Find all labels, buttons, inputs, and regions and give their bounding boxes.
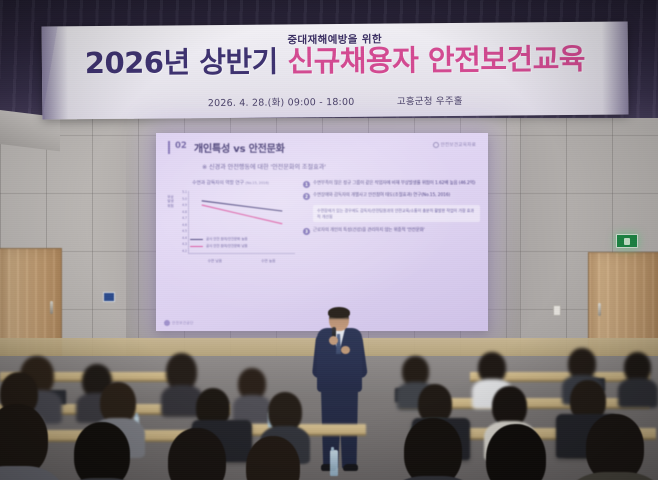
audience-body	[233, 395, 271, 423]
y-tick: 4.5	[178, 230, 187, 233]
banner-title-part-pink: 신규채용자	[287, 43, 428, 78]
legend-swatch-1	[190, 246, 203, 248]
projection-screen: 02 개인특성 vs 안전문화 안전보건교육자료 ※ 신경과 안전행동에 대한 …	[156, 133, 488, 331]
tag-dot-icon	[433, 142, 439, 148]
legend-label-0: 공사 안전 참여/안전문화 높음	[206, 237, 248, 242]
chart-plot-area: 부상발생위험 5.15.04.94.84.74.64.54.44.34.2	[164, 189, 297, 267]
legend-item: 공사 안전 참여/안전문화 낮음	[190, 244, 248, 249]
audience-head	[404, 418, 462, 480]
bullet-number-icon: 1	[303, 181, 310, 188]
y-tick: 4.2	[178, 250, 187, 253]
slide-corner-tag-text: 안전보건교육자료	[441, 142, 476, 148]
legend-label-1: 공사 안전 참여/안전문화 낮음	[206, 244, 248, 249]
y-tick: 4.7	[178, 217, 187, 220]
y-tick: 4.9	[178, 204, 187, 207]
slide-subtitle: ※ 신경과 안전행동에 대한 '안전문화의 조절효과'	[202, 162, 480, 171]
speaker-hand-left	[329, 336, 338, 345]
speaker-hand-right	[341, 346, 350, 354]
bullet-number-icon: 3	[303, 228, 310, 235]
audience-head	[74, 422, 130, 480]
bullet-text: 근로자의 개인의 특성(건강)을 관리하지 않는 위중적 '안전문화'	[313, 228, 425, 235]
audience-head	[486, 424, 546, 480]
banner-title-part-pink2: 안전보건교육	[428, 42, 585, 77]
bullet-note: 수면장애가 있는 경우에도 감독자/안전팀원과의 안전교육/소통이 충분히 활발…	[313, 205, 480, 222]
light-switch[interactable]	[553, 305, 561, 316]
bullet-item: 2 수면장애와 감독자의 개별사고 안전참여 태도(조절효과) 연구(No.15…	[303, 193, 480, 200]
wall-notice-sign	[103, 292, 115, 302]
door-handle	[50, 301, 53, 314]
chart-title-citation: (No.15, 2016)	[245, 181, 268, 185]
y-tick: 4.3	[178, 243, 187, 246]
slide-logo-text: 안전보건공단	[172, 321, 194, 326]
slide-section-number: 02	[175, 141, 187, 151]
banner-venue: 고흥군청 우주홀	[397, 96, 463, 108]
banner-title-part-navy: 2026년 상반기	[85, 44, 288, 80]
speaker-hair	[328, 307, 350, 318]
chart-legend: 공사 안전 참여/안전문화 높음 공사 안전 참여/안전문화 낮음	[190, 237, 248, 251]
y-tick: 4.8	[178, 211, 187, 214]
x-tick-1: 수면 높음	[261, 259, 275, 264]
chart-x-ticks: 수면 낮음 수면 높음	[188, 259, 295, 264]
bullet-text: 수면장애와 감독자의 개별사고 안전참여 태도(조절효과) 연구(No.15, …	[313, 193, 450, 200]
y-tick: 5.0	[178, 198, 187, 201]
y-tick: 5.1	[178, 191, 187, 194]
legend-swatch-0	[190, 239, 203, 241]
slide-chart: 수면과 감독자의 역할 연구 (No.15, 2016) 부상발생위험 5.15…	[164, 179, 297, 267]
banner-meta: 2026. 4. 28.(화) 09:00 - 18:00 고흥군청 우주홀	[42, 91, 628, 110]
bullet-text: 수면부족이 많은 정규 그룹이 같은 작업자에 비해 부상발생률 위험이 1.6…	[313, 181, 475, 188]
y-tick: 4.4	[178, 237, 187, 240]
slide-bullet-list: 1 수면부족이 많은 정규 그룹이 같은 작업자에 비해 부상발생률 위험이 1…	[303, 179, 480, 267]
water-bottle[interactable]	[330, 450, 338, 476]
banner-title: 2026년 상반기 신규채용자 안전보건교육	[42, 43, 628, 80]
audience-body	[618, 378, 658, 408]
exit-sign	[616, 234, 638, 248]
event-banner: 중대재해예방을 위한 2026년 상반기 신규채용자 안전보건교육 2026. …	[42, 21, 629, 119]
bullet-item: 1 수면부족이 많은 정규 그룹이 같은 작업자에 비해 부상발생률 위험이 1…	[303, 181, 480, 188]
chart-series-line-1	[202, 205, 283, 224]
slide-title-text: 개인특성 vs 안전문화	[194, 144, 285, 155]
audience-head	[586, 414, 644, 480]
presentation-slide: 02 개인특성 vs 안전문화 안전보건교육자료 ※ 신경과 안전행동에 대한 …	[156, 133, 488, 331]
slide-corner-tag: 안전보건교육자료	[433, 142, 476, 148]
chart-series-line-0	[202, 201, 283, 211]
slide-header: 02 개인특성 vs 안전문화 안전보건교육자료	[164, 139, 480, 158]
bullet-number-icon: 2	[303, 193, 310, 200]
legend-item: 공사 안전 참여/안전문화 높음	[190, 237, 248, 242]
chart-y-axis-label: 부상발생위험	[164, 195, 177, 208]
chart-title-text: 수면과 감독자의 역할 연구	[192, 181, 244, 186]
slide-logo: 안전보건공단	[164, 320, 194, 326]
y-tick: 4.6	[178, 224, 187, 227]
logo-mark-icon	[164, 320, 170, 326]
banner-date: 2026. 4. 28.(화) 09:00 - 18:00	[208, 97, 355, 109]
slide-title: 개인특성 vs 안전문화	[194, 140, 285, 155]
bullet-item: 3 근로자의 개인의 특성(건강)을 관리하지 않는 위중적 '안전문화'	[303, 228, 480, 235]
x-tick-0: 수면 낮음	[208, 259, 222, 264]
slide-body: 수면과 감독자의 역할 연구 (No.15, 2016) 부상발생위험 5.15…	[164, 179, 480, 267]
chart-y-ticks: 5.15.04.94.84.74.64.54.44.34.2	[178, 191, 187, 253]
door-handle	[598, 303, 601, 316]
chart-title: 수면과 감독자의 역할 연구 (No.15, 2016)	[164, 179, 297, 186]
lecture-hall-photo: 중대재해예방을 위한 2026년 상반기 신규채용자 안전보건교육 2026. …	[0, 0, 658, 480]
slide-accent-bar	[168, 141, 170, 154]
speaker-presenter	[310, 308, 368, 476]
speaker-shoe-right	[343, 464, 358, 471]
